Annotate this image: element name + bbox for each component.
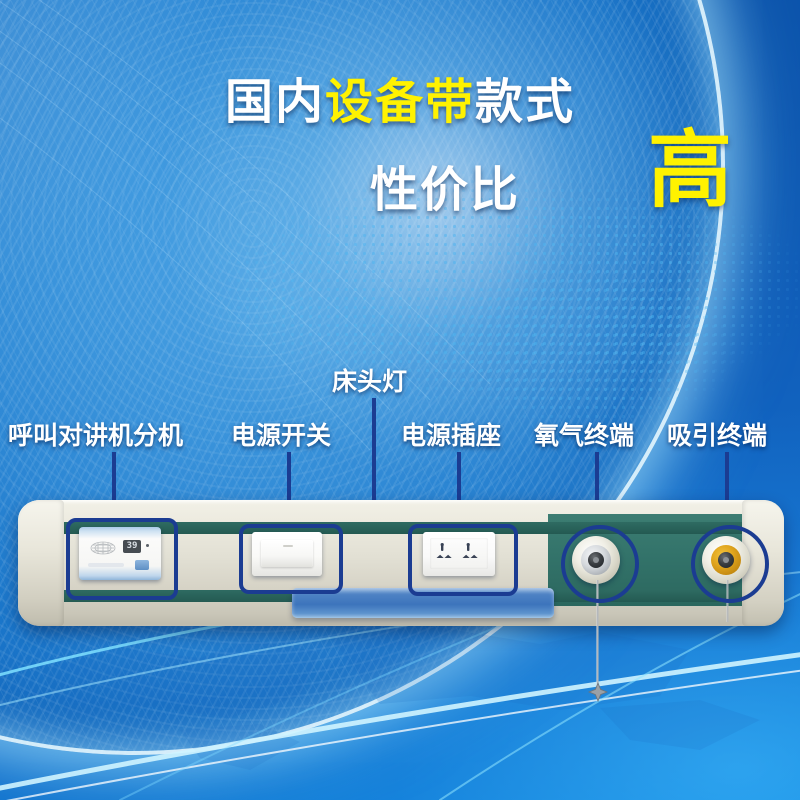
halftone-world-map-secondary bbox=[430, 250, 800, 440]
callout-label-bed-lamp: 床头灯 bbox=[332, 362, 407, 398]
callout-label-oxygen-terminal: 氧气终端 bbox=[534, 416, 634, 452]
callout-label-suction-terminal: 吸引终端 bbox=[667, 416, 767, 452]
promo-banner: 国内设备带款式 性价比 高 呼叫对讲机分机 电源开关 床头灯 电源插座 氧气终端… bbox=[0, 0, 800, 800]
callout-label-power-socket: 电源插座 bbox=[401, 416, 501, 452]
callout-label-intercom: 呼叫对讲机分机 bbox=[8, 416, 183, 452]
callout-outline-intercom bbox=[66, 518, 178, 600]
headline-seg-1: 国内 bbox=[225, 74, 325, 130]
headline-seg-2-accent: 设备带 bbox=[325, 74, 475, 130]
callout-outline-oxygen-terminal bbox=[561, 525, 639, 603]
headline-subtext: 性价比 bbox=[370, 150, 520, 220]
callout-outline-power-socket bbox=[408, 524, 518, 596]
pull-cord-weight-icon bbox=[587, 682, 609, 704]
headline-seg-3: 款式 bbox=[475, 74, 575, 130]
panel-end-cap-left bbox=[18, 500, 64, 626]
callout-outline-suction-terminal bbox=[691, 525, 769, 603]
headline-block: 国内设备带款式 性价比 高 bbox=[0, 78, 800, 126]
callout-outline-power-switch bbox=[239, 524, 343, 594]
headline-line-1: 国内设备带款式 bbox=[0, 78, 800, 126]
callout-label-power-switch: 电源开关 bbox=[231, 416, 331, 452]
headline-accent-char: 高 bbox=[648, 128, 732, 212]
